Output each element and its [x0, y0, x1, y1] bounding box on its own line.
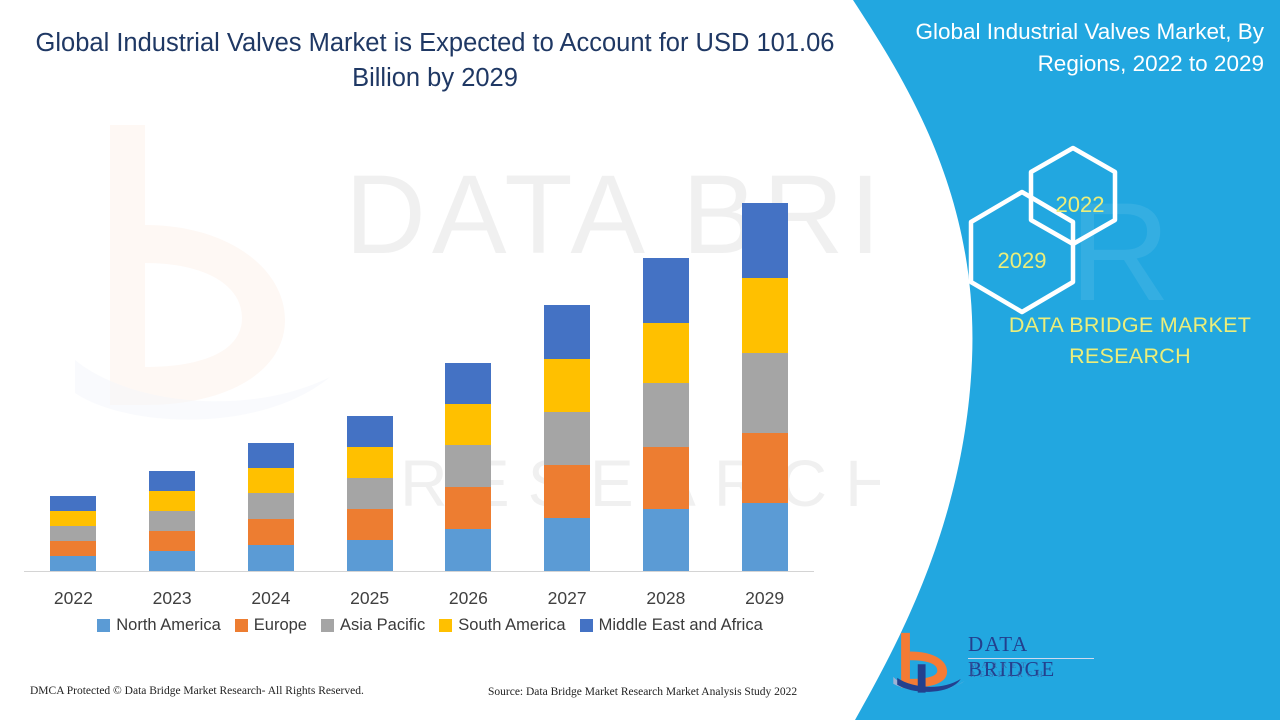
chart-plot-area: [24, 121, 814, 572]
stacked-bar-chart: [24, 120, 814, 572]
bar-segment: [347, 540, 393, 571]
bar-segment: [544, 465, 590, 518]
chart-legend: North AmericaEuropeAsia PacificSouth Ame…: [24, 616, 836, 635]
bar-segment: [149, 531, 195, 551]
hexagon-badge-group: 2022 2029: [975, 140, 1195, 305]
chart-x-axis: 20222023202420252026202720282029: [24, 588, 814, 609]
bar-segment: [643, 447, 689, 509]
footer-copyright: DMCA Protected © Data Bridge Market Rese…: [30, 685, 364, 697]
hex-label-2029: 2029: [977, 248, 1067, 274]
brand-name-line2: RESEARCH: [985, 341, 1275, 372]
bar-segment: [742, 503, 788, 571]
bar-segment: [742, 353, 788, 433]
bar-segment: [643, 509, 689, 571]
bar-segment: [347, 478, 393, 509]
page-title: Global Industrial Valves Market is Expec…: [14, 26, 856, 96]
stacked-bar-2028: [643, 258, 689, 571]
legend-swatch-icon: [580, 619, 593, 632]
bar-segment: [248, 493, 294, 519]
company-logo: DATA BRIDGE MARKET RESEARCH: [892, 628, 1112, 700]
brand-name-line1: DATA BRIDGE MARKET: [985, 310, 1275, 341]
bar-segment: [149, 551, 195, 571]
bar-segment: [445, 529, 491, 571]
stacked-bar-2024: [248, 443, 294, 571]
bar-column: [225, 121, 317, 571]
infographic-canvas: DATA BRIDGE RESEARCH R Global Industrial…: [0, 0, 1280, 720]
bar-segment: [248, 468, 294, 493]
brand-name: DATA BRIDGE MARKET RESEARCH: [985, 310, 1275, 371]
legend-item[interactable]: Asia Pacific: [321, 616, 425, 635]
bar-segment: [50, 556, 96, 571]
footer-source: Source: Data Bridge Market Research Mark…: [488, 686, 797, 698]
bar-segment: [445, 487, 491, 529]
x-axis-tick-2027: 2027: [521, 588, 613, 609]
bar-segment: [347, 509, 393, 540]
panel-title: Global Industrial Valves Market, By Regi…: [892, 16, 1264, 80]
legend-swatch-icon: [235, 619, 248, 632]
bar-segment: [347, 416, 393, 447]
bar-segment: [149, 511, 195, 531]
legend-swatch-icon: [97, 619, 110, 632]
stacked-bar-2029: [742, 203, 788, 571]
stacked-bar-2027: [544, 305, 590, 571]
x-axis-tick-2026: 2026: [422, 588, 514, 609]
legend-item[interactable]: Europe: [235, 616, 307, 635]
bar-column: [521, 121, 613, 571]
bar-segment: [544, 518, 590, 571]
bar-segment: [643, 323, 689, 383]
bar-segment: [347, 447, 393, 478]
legend-label: North America: [116, 616, 221, 635]
bar-segment: [248, 545, 294, 571]
bar-segment: [50, 526, 96, 541]
bar-segment: [50, 511, 96, 526]
legend-label: South America: [458, 616, 565, 635]
bar-column: [126, 121, 218, 571]
x-axis-tick-2029: 2029: [719, 588, 811, 609]
bar-column: [620, 121, 712, 571]
legend-item[interactable]: North America: [97, 616, 221, 635]
bar-segment: [445, 445, 491, 487]
stacked-bar-2026: [445, 363, 491, 571]
bar-segment: [149, 471, 195, 491]
bar-column: [422, 121, 514, 571]
bar-segment: [544, 305, 590, 359]
bar-segment: [544, 359, 590, 412]
x-axis-tick-2028: 2028: [620, 588, 712, 609]
stacked-bar-2025: [347, 416, 393, 571]
bar-segment: [248, 443, 294, 468]
legend-label: Europe: [254, 616, 307, 635]
legend-swatch-icon: [439, 619, 452, 632]
bar-segment: [742, 203, 788, 278]
bar-segment: [248, 519, 294, 545]
hex-label-2022: 2022: [1035, 192, 1125, 218]
x-axis-tick-2024: 2024: [225, 588, 317, 609]
bar-segment: [445, 363, 491, 404]
legend-label: Middle East and Africa: [599, 616, 763, 635]
legend-item[interactable]: Middle East and Africa: [580, 616, 763, 635]
bar-segment: [742, 278, 788, 353]
bar-segment: [50, 496, 96, 511]
bar-segment: [445, 404, 491, 445]
x-axis-tick-2025: 2025: [324, 588, 416, 609]
legend-item[interactable]: South America: [439, 616, 565, 635]
bar-segment: [149, 491, 195, 511]
bar-segment: [544, 412, 590, 465]
bar-column: [719, 121, 811, 571]
bar-segment: [50, 541, 96, 556]
x-axis-tick-2022: 2022: [27, 588, 119, 609]
stacked-bar-2022: [50, 496, 96, 571]
bar-column: [324, 121, 416, 571]
bar-segment: [643, 383, 689, 447]
logo-text-sub: MARKET RESEARCH: [970, 661, 1112, 679]
legend-swatch-icon: [321, 619, 334, 632]
bar-segment: [742, 433, 788, 503]
legend-label: Asia Pacific: [340, 616, 425, 635]
bar-column: [27, 121, 119, 571]
logo-mark-icon: [892, 630, 966, 696]
stacked-bar-2023: [149, 471, 195, 571]
bar-segment: [643, 258, 689, 323]
x-axis-tick-2023: 2023: [126, 588, 218, 609]
